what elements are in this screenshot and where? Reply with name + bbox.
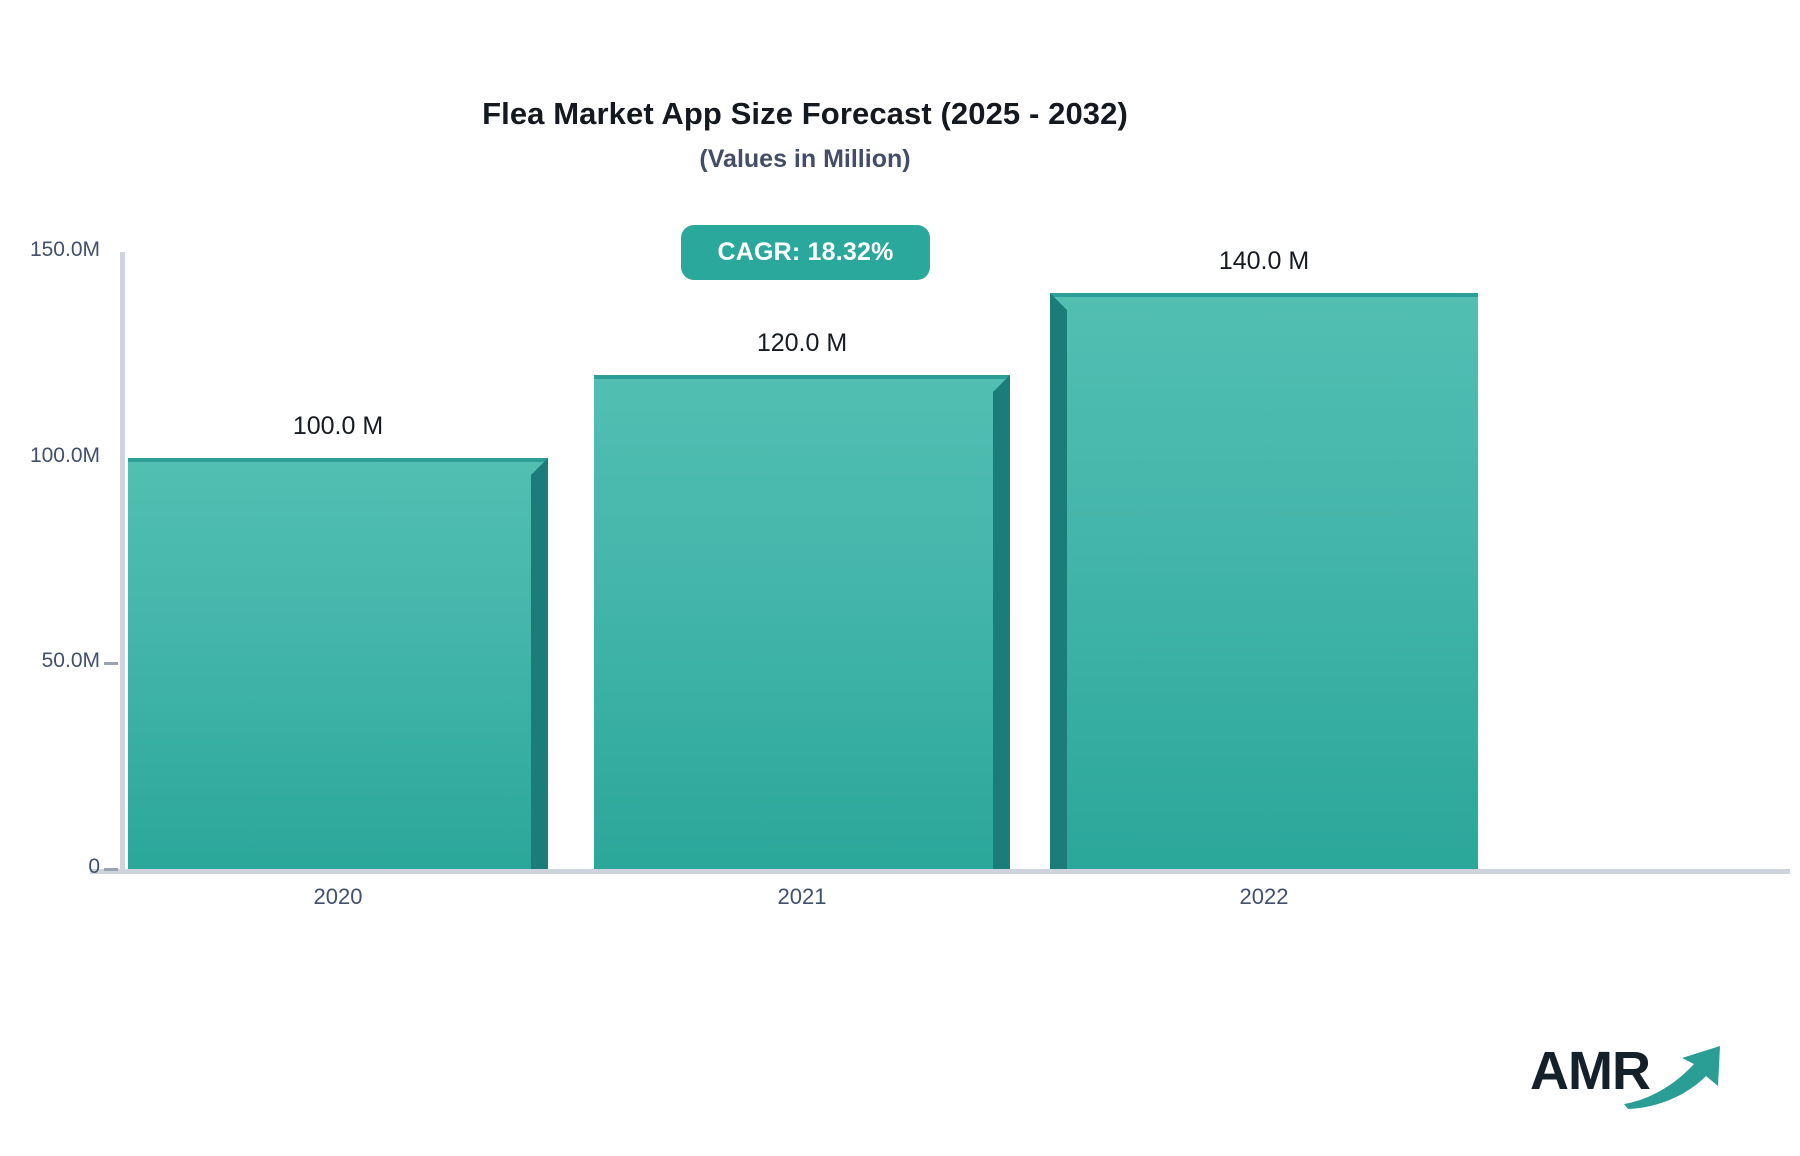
bar-value-label: 120.0 M [594,329,1010,358]
bar-chamfer [531,458,548,475]
y-axis-tick-label: 50.0M [0,649,100,673]
amr-logo: AMR [1530,1040,1730,1112]
bar-top-edge [594,375,1010,379]
bar-top-edge [1050,293,1478,297]
bar-top-edge [128,458,548,462]
x-axis-tick-label-2022: 2022 [1050,884,1478,910]
cagr-badge-label: CAGR: 18.32% [717,238,893,267]
y-axis-tick-label: 100.0M [0,444,100,468]
bar-face [128,458,548,869]
bar-side-3d [531,475,548,869]
cagr-badge: CAGR: 18.32% [681,225,930,280]
y-axis-tick-mark [104,868,118,871]
x-axis-tick-label-2021: 2021 [594,884,1010,910]
y-axis-line [120,252,125,872]
bar-value-label: 100.0 M [128,412,548,441]
y-axis-tick-label: 150.0M [0,238,100,262]
growth-arrow-icon [1622,1042,1732,1110]
x-axis-tick-label-2020: 2020 [128,884,548,910]
bar-chamfer [993,375,1010,392]
bar-face [1050,293,1478,869]
bar-value-label: 140.0 M [1050,247,1478,276]
bar-chamfer [1050,293,1067,310]
bar-side-3d [1050,310,1067,869]
plot-area: 050.0M100.0M150.0M 100.0 M120.0 M140.0 M… [0,0,1800,1156]
bar-2022 [1050,293,1478,869]
bar-side-3d [993,392,1010,869]
bar-2021 [594,375,1010,869]
x-axis-baseline [90,869,1790,874]
y-axis-tick-mark [104,662,118,665]
bar-face [594,375,1010,869]
y-axis-tick-label: 0 [0,855,100,879]
bar-2020 [128,458,548,869]
chart-canvas: Flea Market App Size Forecast (2025 - 20… [0,0,1800,1156]
